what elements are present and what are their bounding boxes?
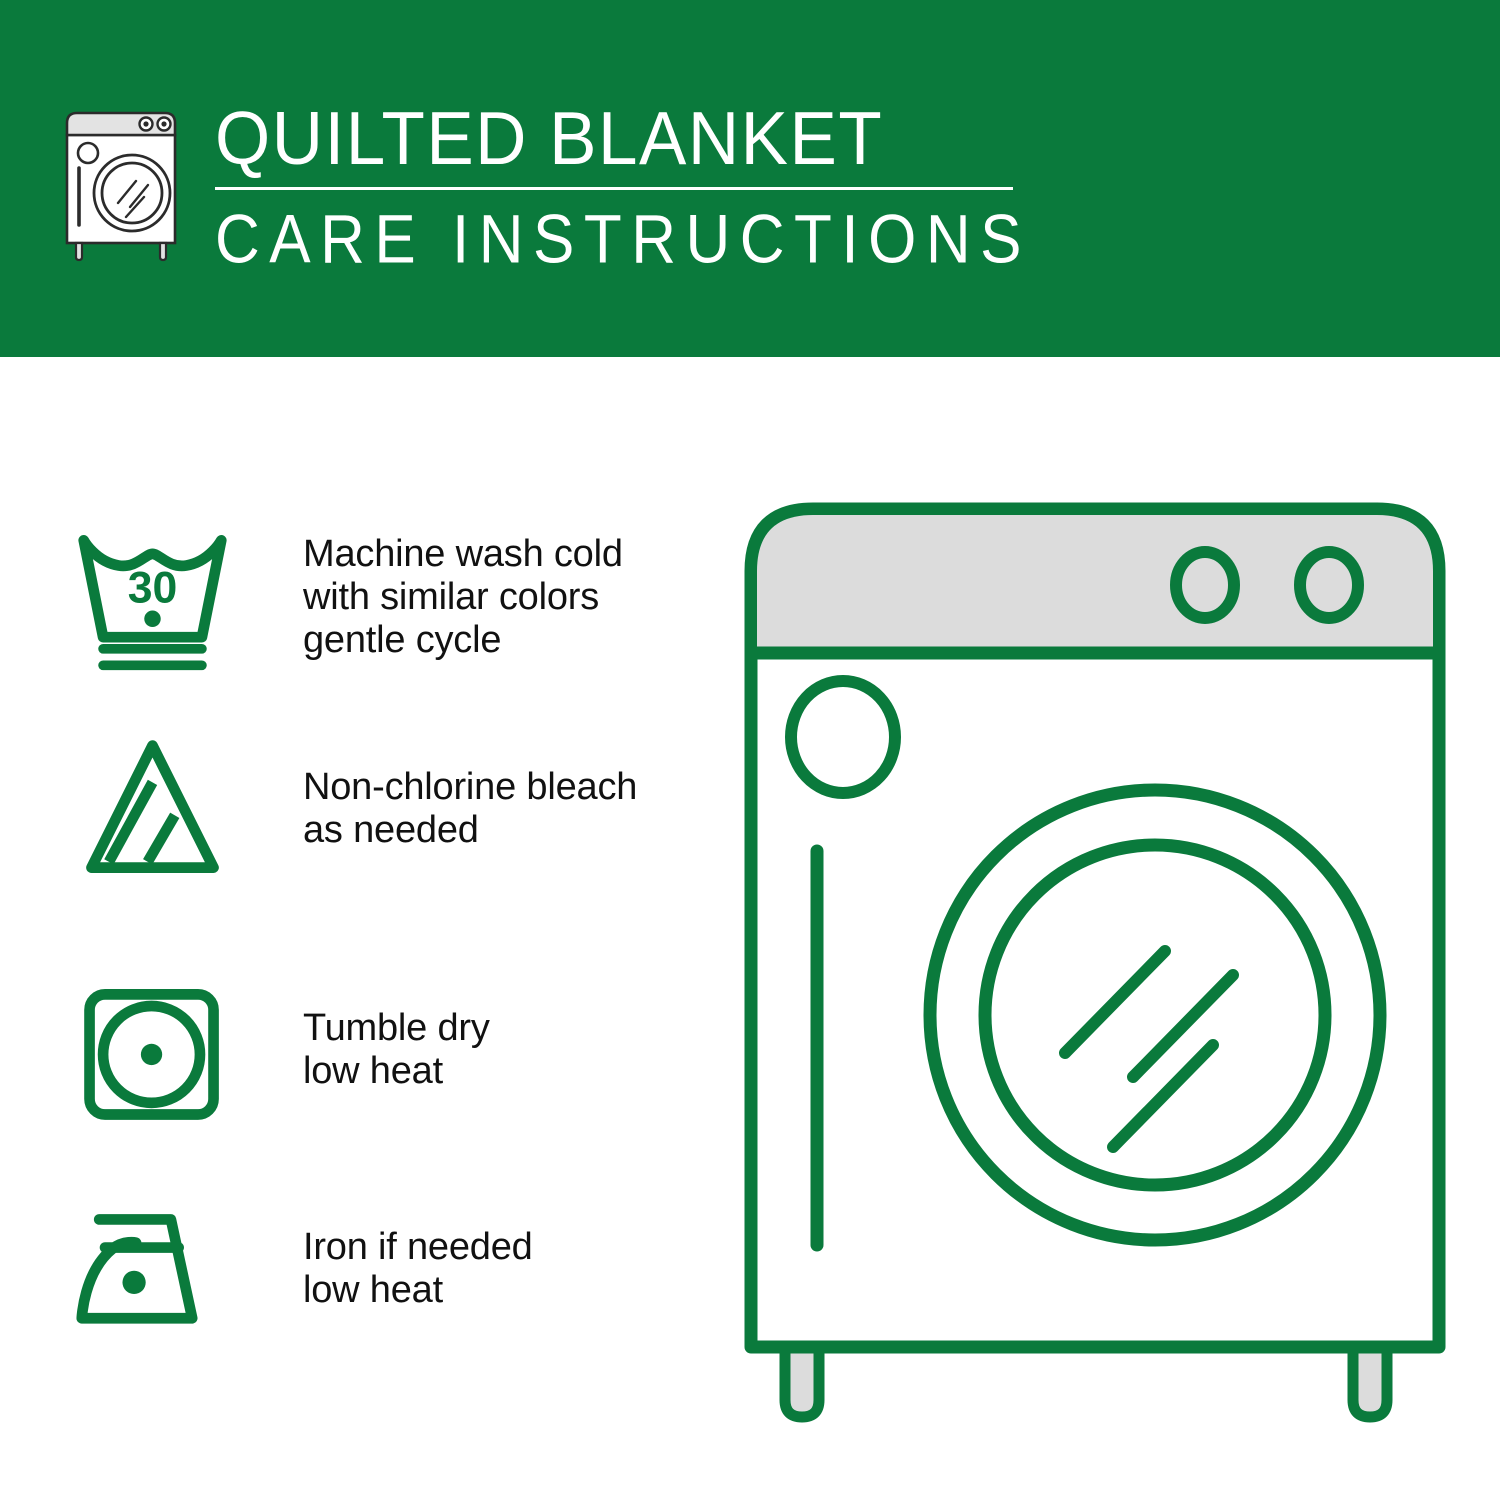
iron-low-heat-icon (70, 1202, 235, 1357)
knob-right (1300, 552, 1358, 618)
front-load-washing-machine-illustration (735, 485, 1455, 1435)
care-item-label: Non-chlorine bleach as needed (303, 732, 637, 852)
care-item-label: Tumble dry low heat (303, 975, 490, 1093)
header-banner: QUILTED BLANKET CARE INSTRUCTIONS (0, 0, 1500, 357)
page-title: QUILTED BLANKET (215, 96, 1025, 183)
care-item-tumble-dry: Tumble dry low heat (70, 975, 710, 1130)
tumble-dry-low-heat-icon (70, 975, 235, 1130)
knob-left (1176, 552, 1234, 618)
washing-machine-icon (60, 105, 190, 265)
care-item-label: Machine wash cold with similar colors ge… (303, 519, 623, 662)
wash-tub-30-gentle-icon: 30 (70, 519, 235, 674)
title-divider (215, 187, 1013, 190)
door-inner-ring (985, 845, 1325, 1185)
page-subtitle: CARE INSTRUCTIONS (215, 201, 1025, 280)
care-instructions-list: 30 Machine wash cold with similar colors… (0, 357, 730, 1500)
care-item-iron: Iron if needed low heat (70, 1202, 710, 1357)
header-title-block: QUILTED BLANKET CARE INSTRUCTIONS (215, 96, 1025, 273)
care-item-label: Iron if needed low heat (303, 1202, 533, 1312)
care-item-bleach: Non-chlorine bleach as needed (70, 732, 710, 887)
triangle-non-chlorine-bleach-icon (70, 732, 235, 887)
care-instructions-page: QUILTED BLANKET CARE INSTRUCTIONS 30 Mac… (0, 0, 1500, 1500)
care-item-machine-wash: 30 Machine wash cold with similar colors… (70, 519, 710, 674)
small-dial (791, 681, 895, 793)
wash-temperature-label: 30 (128, 563, 178, 612)
